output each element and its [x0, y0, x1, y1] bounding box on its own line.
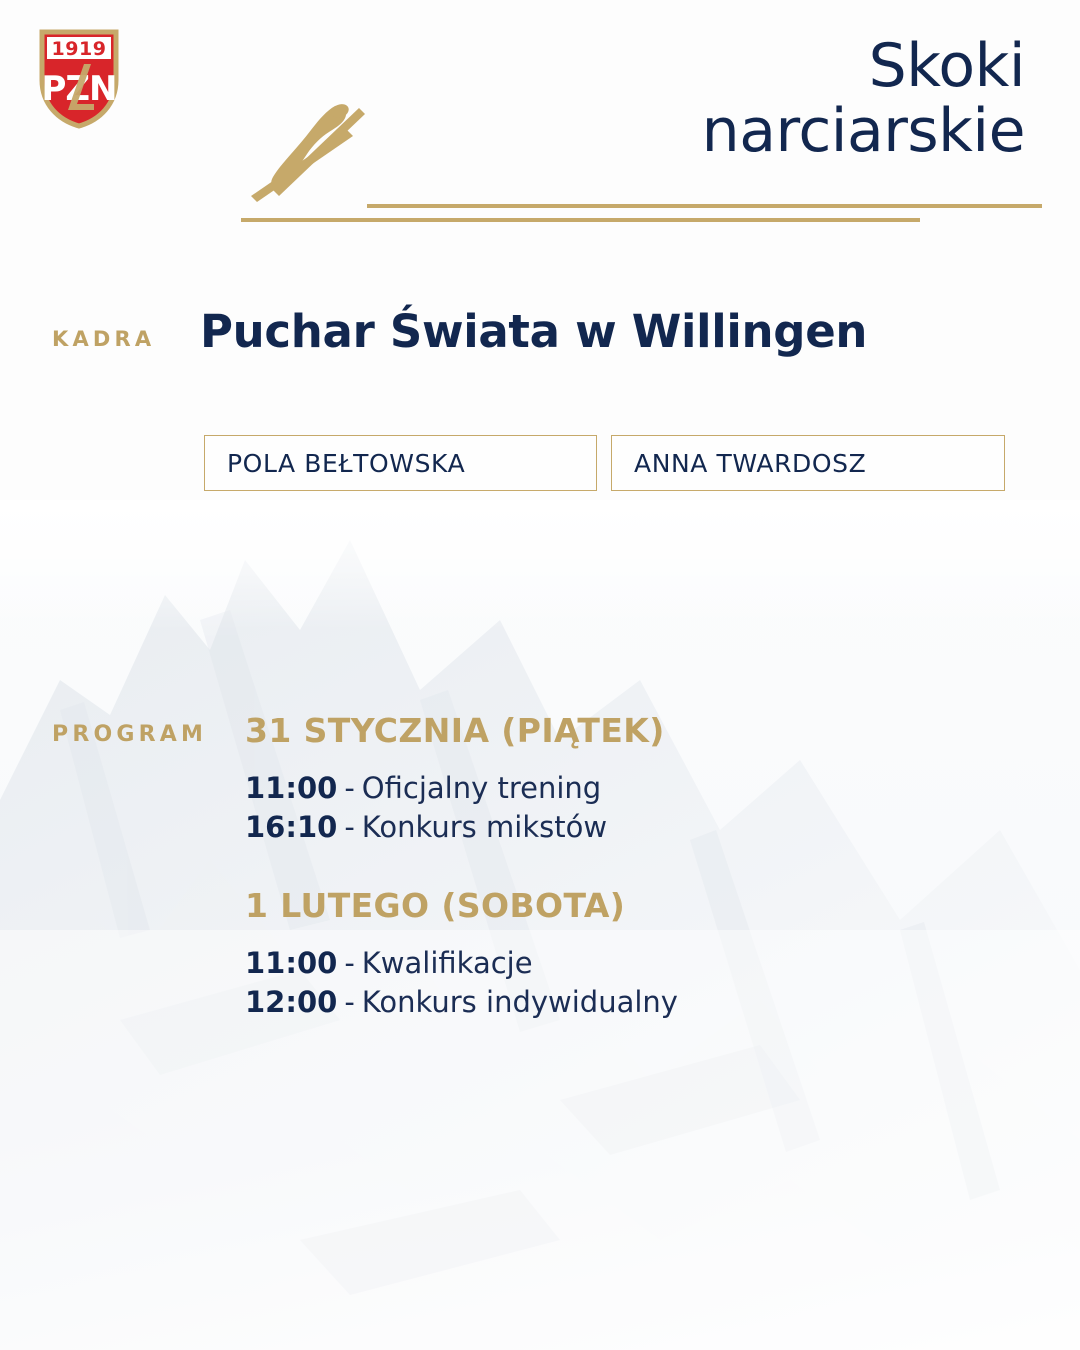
athlete-name-box[interactable]: ANNA TWARDOSZ [611, 435, 1005, 491]
athlete-name: ANNA TWARDOSZ [634, 449, 866, 478]
session-time: 11:00 [245, 769, 337, 808]
athlete-name-box[interactable]: POLA BEŁTOWSKA [204, 435, 597, 491]
session-dash: - [344, 944, 354, 983]
program-session: 12:00 - Konkurs indywidualny [245, 983, 1005, 1022]
program-label: PROGRAM [52, 722, 207, 747]
program-day-title: 1 LUTEGO (SOBOTA) [245, 887, 1005, 925]
event-title: Puchar Świata w Willingen [200, 305, 867, 358]
squad-label: KADRA [52, 327, 155, 351]
session-dash: - [344, 769, 354, 808]
session-dash: - [344, 983, 354, 1022]
program-session: 11:00 - Oficjalny trening [245, 769, 1005, 808]
page-title: Skoki narciarskie [405, 34, 1025, 164]
session-description: Kwalifikacje [362, 944, 533, 983]
gold-rule-upper [367, 204, 1042, 208]
gold-rule-lower [241, 218, 920, 222]
session-description: Konkurs mikstów [362, 808, 607, 847]
page-title-line-2: narciarskie [405, 99, 1025, 164]
poster-header: 1919 PZN [0, 0, 1080, 250]
session-description: Konkurs indywidualny [362, 983, 678, 1022]
poster-canvas: 1919 PZN [0, 0, 1080, 1350]
program-day: 1 LUTEGO (SOBOTA) 11:00 - Kwalifikacje 1… [245, 887, 1005, 1022]
session-time: 12:00 [245, 983, 337, 1022]
athlete-name: POLA BEŁTOWSKA [227, 449, 465, 478]
program-day-title: 31 STYCZNIA (PIĄTEK) [245, 712, 1005, 750]
program-session-list: 11:00 - Oficjalny trening 16:10 - Konkur… [245, 769, 1005, 847]
session-description: Oficjalny trening [362, 769, 601, 808]
svg-text:1919: 1919 [52, 38, 107, 60]
ski-jumper-silhouette-icon [243, 100, 373, 205]
program-days: 31 STYCZNIA (PIĄTEK) 11:00 - Oficjalny t… [245, 712, 1005, 1022]
session-time: 16:10 [245, 808, 337, 847]
program-session-list: 11:00 - Kwalifikacje 12:00 - Konkurs ind… [245, 944, 1005, 1022]
page-title-line-1: Skoki [405, 34, 1025, 99]
pzn-shield-logo-icon: 1919 PZN [38, 28, 120, 130]
program-session: 16:10 - Konkurs mikstów [245, 808, 1005, 847]
athlete-list: POLA BEŁTOWSKA ANNA TWARDOSZ [204, 435, 1005, 491]
session-dash: - [344, 808, 354, 847]
program-session: 11:00 - Kwalifikacje [245, 944, 1005, 983]
session-time: 11:00 [245, 944, 337, 983]
program-day: 31 STYCZNIA (PIĄTEK) 11:00 - Oficjalny t… [245, 712, 1005, 847]
